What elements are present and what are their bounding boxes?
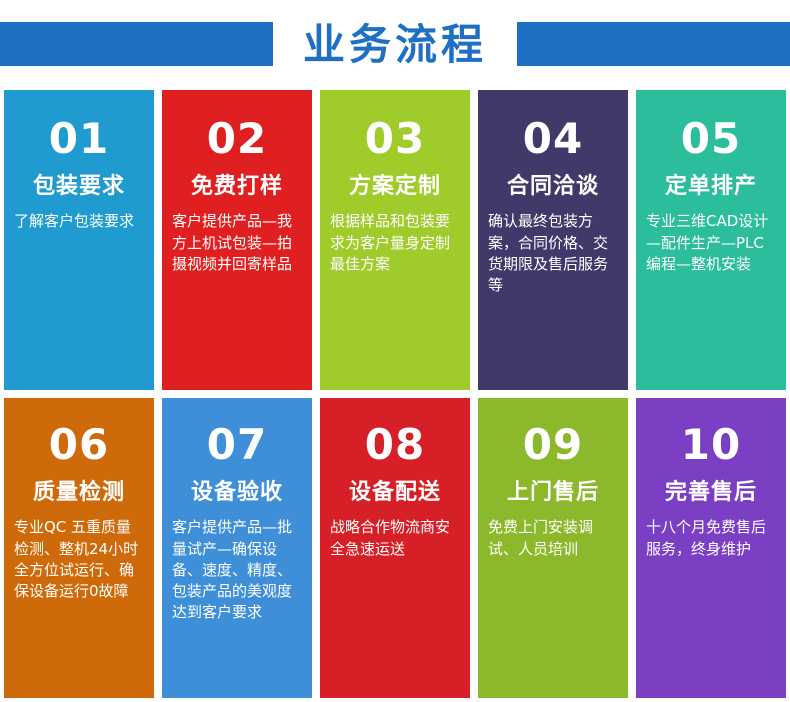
card-title: 合同洽谈 [488,174,618,199]
card-number: 03 [330,118,460,160]
card-number: 08 [330,424,460,466]
process-card-09[interactable]: 09 上门售后 免费上门安装调试、人员培训 [478,398,628,698]
card-description: 免费上门安装调试、人员培训 [488,517,618,560]
process-card-01[interactable]: 01 包装要求 了解客户包装要求 [4,90,154,390]
header-title-wrap: 业务流程 [0,0,790,90]
card-number: 02 [172,118,302,160]
card-number: 06 [14,424,144,466]
card-number: 10 [646,424,776,466]
card-description: 客户提供产品—我方上机试包装—拍摄视频并回寄样品 [172,211,302,275]
card-title: 定单排产 [646,174,776,199]
process-row-1: 01 包装要求 了解客户包装要求 02 免费打样 客户提供产品—我方上机试包装—… [4,90,786,390]
card-number: 07 [172,424,302,466]
card-title: 免费打样 [172,174,302,199]
card-description: 战略合作物流商安全急速运送 [330,517,460,560]
card-description: 确认最终包装方案，合同价格、交货期限及售后服务等 [488,211,618,296]
card-description: 根据样品和包装要求为客户量身定制最佳方案 [330,211,460,275]
card-description: 专业QC 五重质量检测、整机24小时全方位试运行、确保设备运行0故障 [14,517,144,602]
card-title: 质量检测 [14,480,144,505]
card-number: 05 [646,118,776,160]
card-title: 完善售后 [646,480,776,505]
process-card-05[interactable]: 05 定单排产 专业三维CAD设计—配件生产—PLC编程—整机安装 [636,90,786,390]
card-title: 上门售后 [488,480,618,505]
card-title: 设备验收 [172,480,302,505]
process-grid: 01 包装要求 了解客户包装要求 02 免费打样 客户提供产品—我方上机试包装—… [0,90,790,702]
card-title: 包装要求 [14,174,144,199]
card-description: 十八个月免费售后服务，终身维护 [646,517,776,560]
page-title: 业务流程 [273,19,517,71]
process-row-2: 06 质量检测 专业QC 五重质量检测、整机24小时全方位试运行、确保设备运行0… [4,398,786,698]
card-number: 04 [488,118,618,160]
card-description: 专业三维CAD设计—配件生产—PLC编程—整机安装 [646,211,776,275]
business-process-infographic: 业务流程 01 包装要求 了解客户包装要求 02 免费打样 客户提供产品—我方上… [0,0,790,702]
card-title: 方案定制 [330,174,460,199]
card-title: 设备配送 [330,480,460,505]
header: 业务流程 [0,0,790,90]
card-description: 客户提供产品—批量试产—确保设备、速度、精度、包装产品的美观度达到客户要求 [172,517,302,623]
process-card-02[interactable]: 02 免费打样 客户提供产品—我方上机试包装—拍摄视频并回寄样品 [162,90,312,390]
process-card-06[interactable]: 06 质量检测 专业QC 五重质量检测、整机24小时全方位试运行、确保设备运行0… [4,398,154,698]
process-card-04[interactable]: 04 合同洽谈 确认最终包装方案，合同价格、交货期限及售后服务等 [478,90,628,390]
process-card-10[interactable]: 10 完善售后 十八个月免费售后服务，终身维护 [636,398,786,698]
process-card-08[interactable]: 08 设备配送 战略合作物流商安全急速运送 [320,398,470,698]
process-card-07[interactable]: 07 设备验收 客户提供产品—批量试产—确保设备、速度、精度、包装产品的美观度达… [162,398,312,698]
process-card-03[interactable]: 03 方案定制 根据样品和包装要求为客户量身定制最佳方案 [320,90,470,390]
card-description: 了解客户包装要求 [14,211,144,232]
card-number: 01 [14,118,144,160]
card-number: 09 [488,424,618,466]
